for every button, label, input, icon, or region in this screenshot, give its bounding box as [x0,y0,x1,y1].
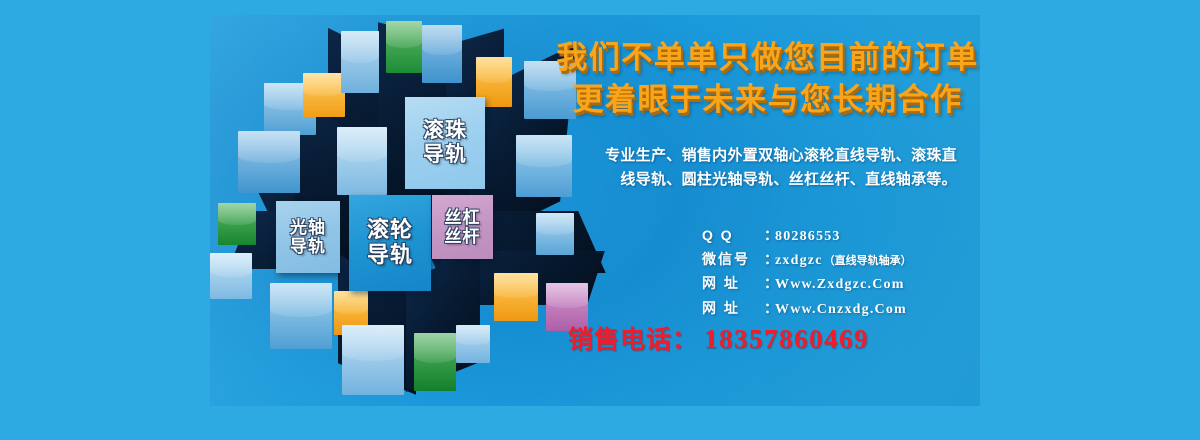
contact-separator: ： [764,272,775,295]
cube-blue-steel [422,25,462,83]
cube-orange-right [494,273,538,321]
contact-label: 网 址 [702,297,764,320]
contact-separator: ： [764,224,775,247]
banner-panel: 滚珠 导轨 光轴 导轨 滚轮 导轨 丝杠 丝杆 我们不单单只做您目前的订单 更着… [210,15,980,406]
contact-list: Q Q ： 80286553 微信号 ： zxdgzc （直线导轨轴承） 网 址… [702,224,980,321]
contact-row-website-1: 网 址 ： Www.Zxdgzc.Com [702,272,980,296]
cube-blue-centre-pale [337,127,387,195]
product-label-line2: 导轨 [367,243,413,268]
subcopy-line-1: 专业生产、销售内外置双轴心滚轮直线导轨、 [605,147,911,164]
cube-orange [303,73,345,117]
contact-row-website-2: 网 址 ： Www.Cnzxdg.Com [702,297,980,321]
banner-text-column: 我们不单单只做您目前的订单 更着眼于未来与您长期合作 专业生产、销售内外置双轴心… [555,15,980,406]
cube-green [386,21,422,73]
product-label-line2: 导轨 [423,143,467,167]
cube-burst-graphic: 滚珠 导轨 光轴 导轨 滚轮 导轨 丝杠 丝杆 [210,15,600,406]
contact-value-website-2[interactable]: Www.Cnzxdg.Com [775,298,907,321]
product-label-gunlun-daogui[interactable]: 滚轮 导轨 [349,195,431,291]
sales-phone-line: 销售电话：18357860469 [568,320,978,356]
contact-row-qq: Q Q ： 80286553 [702,224,980,248]
sales-phone-number[interactable]: 18357860469 [704,324,869,354]
contact-value-wechat[interactable]: zxdgzc [775,249,823,272]
product-label-line1: 滚珠 [423,119,467,143]
contact-value-website-1[interactable]: Www.Zxdgzc.Com [775,273,905,296]
cube-blue-pale [341,31,379,93]
cube-blue-mid [238,131,300,193]
product-label-gunzhu-daogui[interactable]: 滚珠 导轨 [405,97,485,189]
sales-phone-label: 销售电话： [568,326,698,354]
cube-blue-bottom-big [342,325,404,395]
contact-label: 网 址 [702,272,764,295]
product-label-line1: 滚轮 [367,218,413,243]
headline-line-2: 更着眼于未来与您长期合作 [555,79,980,121]
product-label-line1: 光轴 [290,218,326,237]
cube-blue-bottom-left [270,283,332,349]
product-label-line2: 导轨 [290,237,326,256]
product-label-line1: 丝杠 [445,208,481,227]
subcopy-line-3: 线轴承等。 [880,171,957,188]
banner-headline: 我们不单单只做您目前的订单 更着眼于未来与您长期合作 [555,37,980,121]
product-label-guangzhou-daogui[interactable]: 光轴 导轨 [276,201,340,273]
cube-green-left [218,203,256,245]
product-label-sigang-sigan[interactable]: 丝杠 丝杆 [432,195,493,259]
contact-value-qq[interactable]: 80286553 [775,225,841,248]
promo-banner: 滚珠 导轨 光轴 导轨 滚轮 导轨 丝杠 丝杆 我们不单单只做您目前的订单 更着… [0,0,1200,440]
cube-blue-left-low [210,253,252,299]
product-label-line2: 丝杆 [445,227,481,246]
cube-green-bottom [414,333,456,391]
contact-note-wechat: （直线导轨轴承） [824,252,912,270]
contact-separator: ： [764,297,775,320]
contact-label: 微信号 [702,248,764,271]
cube-blue-right-low [456,325,490,363]
contact-row-wechat: 微信号 ： zxdgzc （直线导轨轴承） [702,248,980,272]
banner-subcopy: 专业生产、销售内外置双轴心滚轮直线导轨、滚珠直线导轨、圆柱光轴导轨、丝杠丝杆、直… [597,144,957,193]
contact-label: Q Q [702,224,764,247]
headline-line-1: 我们不单单只做您目前的订单 [555,37,980,79]
contact-separator: ： [764,248,775,271]
